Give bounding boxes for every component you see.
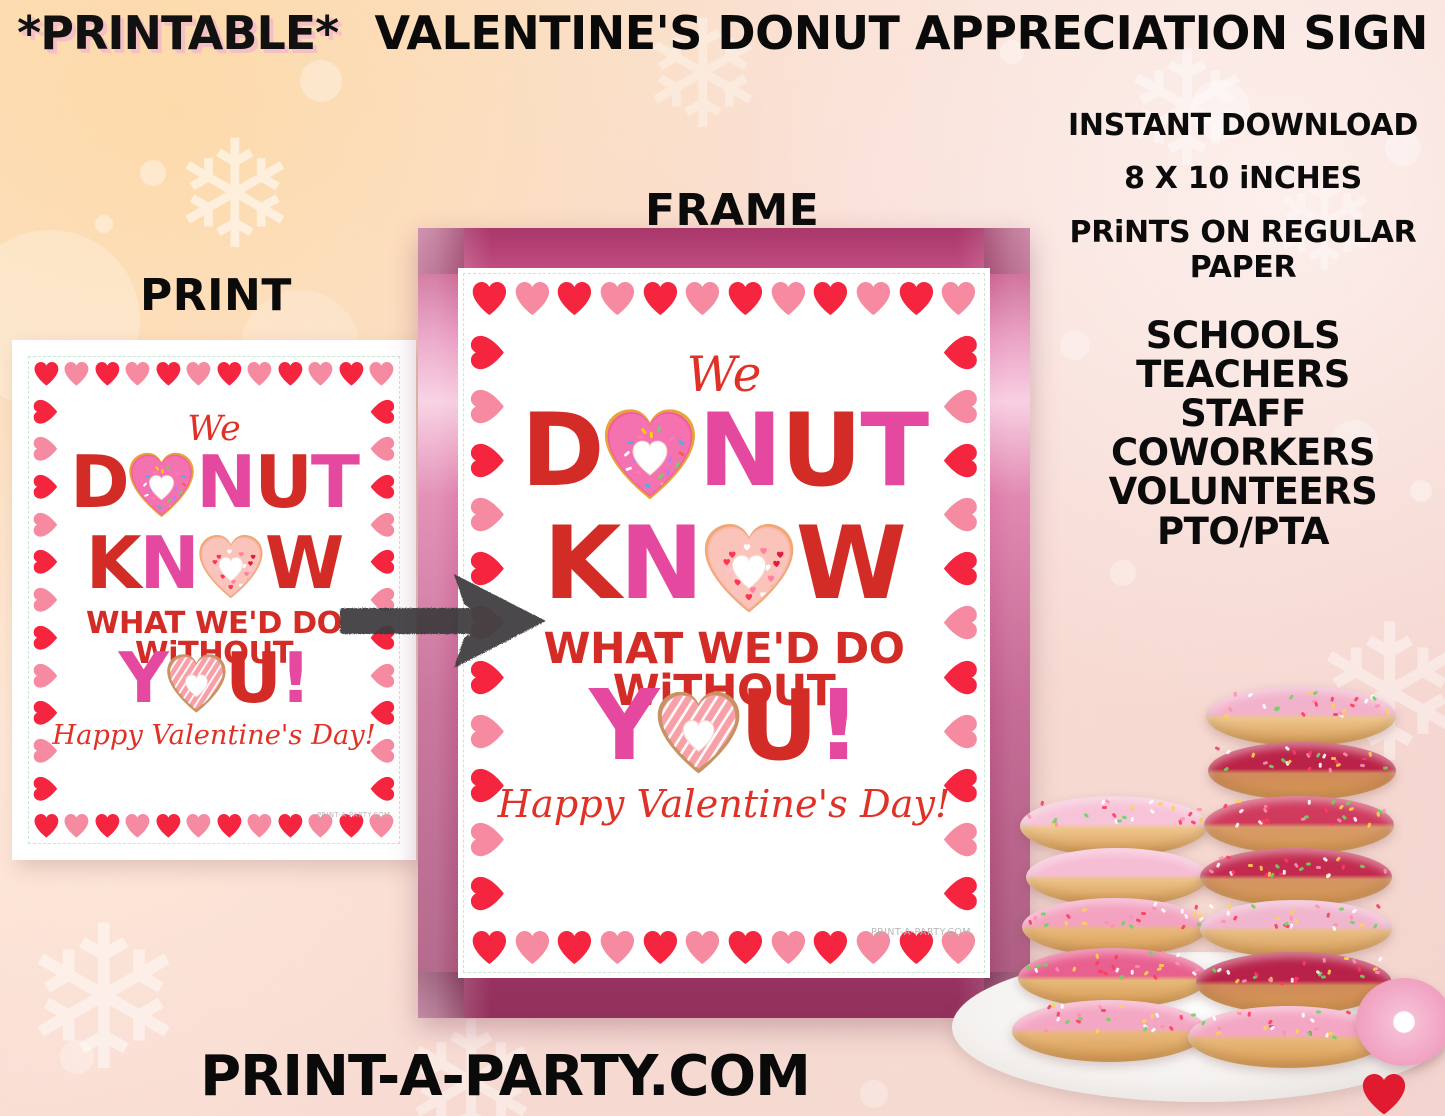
donut-image: [1020, 796, 1208, 856]
heart-icon: [64, 814, 89, 838]
donut-image: [1208, 742, 1396, 800]
audience-item: PTO/PTA: [1053, 512, 1433, 551]
heart-icon: [339, 362, 364, 386]
bokeh-dot: [1110, 560, 1136, 586]
heart-icon: [34, 362, 59, 386]
heart-icon: [515, 282, 550, 315]
heart-icon: [944, 876, 977, 911]
heart-icon: [944, 822, 977, 857]
audience-item: COWORKERS: [1053, 433, 1433, 472]
frame-corner: [984, 228, 1030, 274]
heart-icon: [278, 362, 303, 386]
label-print: PRINT: [140, 270, 292, 321]
heart-icon: [856, 282, 891, 315]
heart-icon: [34, 814, 59, 838]
letter: !: [280, 644, 310, 714]
heart-icon: [33, 776, 57, 801]
letter: !: [816, 677, 858, 774]
printable-badge: *PRINTABLE*: [17, 6, 338, 60]
audience-item: SCHOOLS: [1053, 316, 1433, 355]
donut-image: [1018, 948, 1208, 1008]
heart-icon: [899, 282, 934, 315]
letter: T: [311, 446, 358, 518]
letter: K: [543, 513, 619, 614]
heart-icon: [643, 282, 678, 315]
heart-icon: [156, 814, 181, 838]
letter: N: [140, 527, 198, 599]
heart-icon: [64, 362, 89, 386]
heart-icon: [728, 282, 763, 315]
heart-icon: [472, 931, 507, 964]
heart-icon: [217, 362, 242, 386]
letter: W: [265, 527, 342, 599]
heart-icon: [247, 362, 272, 386]
heart-donut-icon: [128, 453, 195, 520]
watermark: PRINT-A-PARTY.COM: [871, 927, 971, 938]
info-line: INSTANT DOWNLOAD: [1053, 108, 1433, 143]
title-text: VALENTINE'S DONUT APPRECIATION SIGN: [374, 6, 1427, 60]
letter: U: [739, 677, 816, 774]
letter: Y: [119, 644, 167, 714]
heart-icon: [941, 282, 976, 315]
heart-icon: [369, 362, 394, 386]
frame-corner: [418, 972, 464, 1018]
heart-icon: [813, 282, 848, 315]
letter: W: [796, 513, 905, 614]
heart-icon: [771, 282, 806, 315]
audience-item: TEACHERS: [1053, 355, 1433, 394]
heart-icon: [600, 282, 635, 315]
letter: U: [225, 644, 279, 714]
letter: D: [70, 446, 128, 518]
letter: N: [698, 400, 780, 501]
audience-item: STAFF: [1053, 394, 1433, 433]
bokeh-dot: [140, 160, 166, 186]
heart-icon: [156, 362, 181, 386]
heart-icon: [186, 814, 211, 838]
heart-icon: [186, 362, 211, 386]
word-donut: DNUT: [24, 446, 404, 518]
heart-icon: [125, 814, 150, 838]
heart-icon: [125, 362, 150, 386]
heart-icon: [557, 282, 592, 315]
word-donut: DNUT: [458, 400, 990, 501]
audience-item: VOLUNTEERS: [1053, 472, 1433, 511]
heart-icon: [472, 282, 507, 315]
heart-icon: [771, 931, 806, 964]
page-title: *PRINTABLE* VALENTINE'S DONUT APPRECIATI…: [0, 6, 1445, 60]
bokeh-dot: [300, 60, 342, 102]
heart-icon: [95, 362, 120, 386]
site-url: PRINT-A-PARTY.COM: [0, 1044, 1010, 1109]
heart-candy-icon: [1362, 1074, 1406, 1112]
heart-icon: [728, 931, 763, 964]
heart-icon: [685, 282, 720, 315]
heart-icon: [515, 931, 550, 964]
snowflake-icon: ❄: [172, 120, 298, 270]
heart-icon: [278, 814, 303, 838]
letter: Y: [589, 677, 658, 774]
info-line: PRiNTS ON REGULAR PAPER: [1053, 215, 1433, 286]
letter: D: [521, 400, 603, 501]
info-line: 8 X 10 iNCHES: [1053, 161, 1433, 196]
letter: N: [619, 513, 701, 614]
word-you: YU!: [458, 677, 990, 774]
bokeh-dot: [95, 215, 113, 233]
closing-line: Happy Valentine's Day!: [458, 786, 990, 824]
arrow-icon: [336, 566, 551, 676]
heart-icon: [557, 931, 592, 964]
heart-donut-icon: [198, 535, 264, 601]
heart-icon: [600, 931, 635, 964]
audience-list: SCHOOLS TEACHERS STAFF COWORKERS VOLUNTE…: [1053, 316, 1433, 551]
watermark: PRINT-A-PARTY.COM: [317, 811, 390, 819]
letter: U: [254, 446, 310, 518]
heart-icon: [685, 931, 720, 964]
letter: N: [196, 446, 254, 518]
donut-image: [1204, 796, 1394, 854]
heart-icon: [813, 931, 848, 964]
heart-icon: [643, 931, 678, 964]
donut-image: [1200, 848, 1392, 906]
heart-icon: [217, 814, 242, 838]
heart-donut-icon: [603, 409, 697, 503]
closing-line: Happy Valentine's Day!: [24, 722, 404, 749]
info-column: INSTANT DOWNLOAD 8 X 10 iNCHES PRiNTS ON…: [1053, 108, 1433, 551]
heart-icon: [471, 876, 504, 911]
letter: K: [86, 527, 140, 599]
heart-donut-icon: [703, 524, 795, 616]
heart-icon: [247, 814, 272, 838]
letter: T: [860, 400, 927, 501]
heart-cookie-icon: [166, 654, 227, 715]
donut-image: [1200, 900, 1392, 958]
heart-icon: [95, 814, 120, 838]
heart-cookie-icon: [656, 691, 741, 776]
donut-image: [1206, 686, 1396, 746]
donut-image-small: [1356, 978, 1445, 1066]
heart-icon: [371, 776, 395, 801]
heart-icon: [471, 822, 504, 857]
heart-icon: [308, 362, 333, 386]
donut-image: [1012, 1000, 1207, 1062]
letter: U: [781, 400, 861, 501]
